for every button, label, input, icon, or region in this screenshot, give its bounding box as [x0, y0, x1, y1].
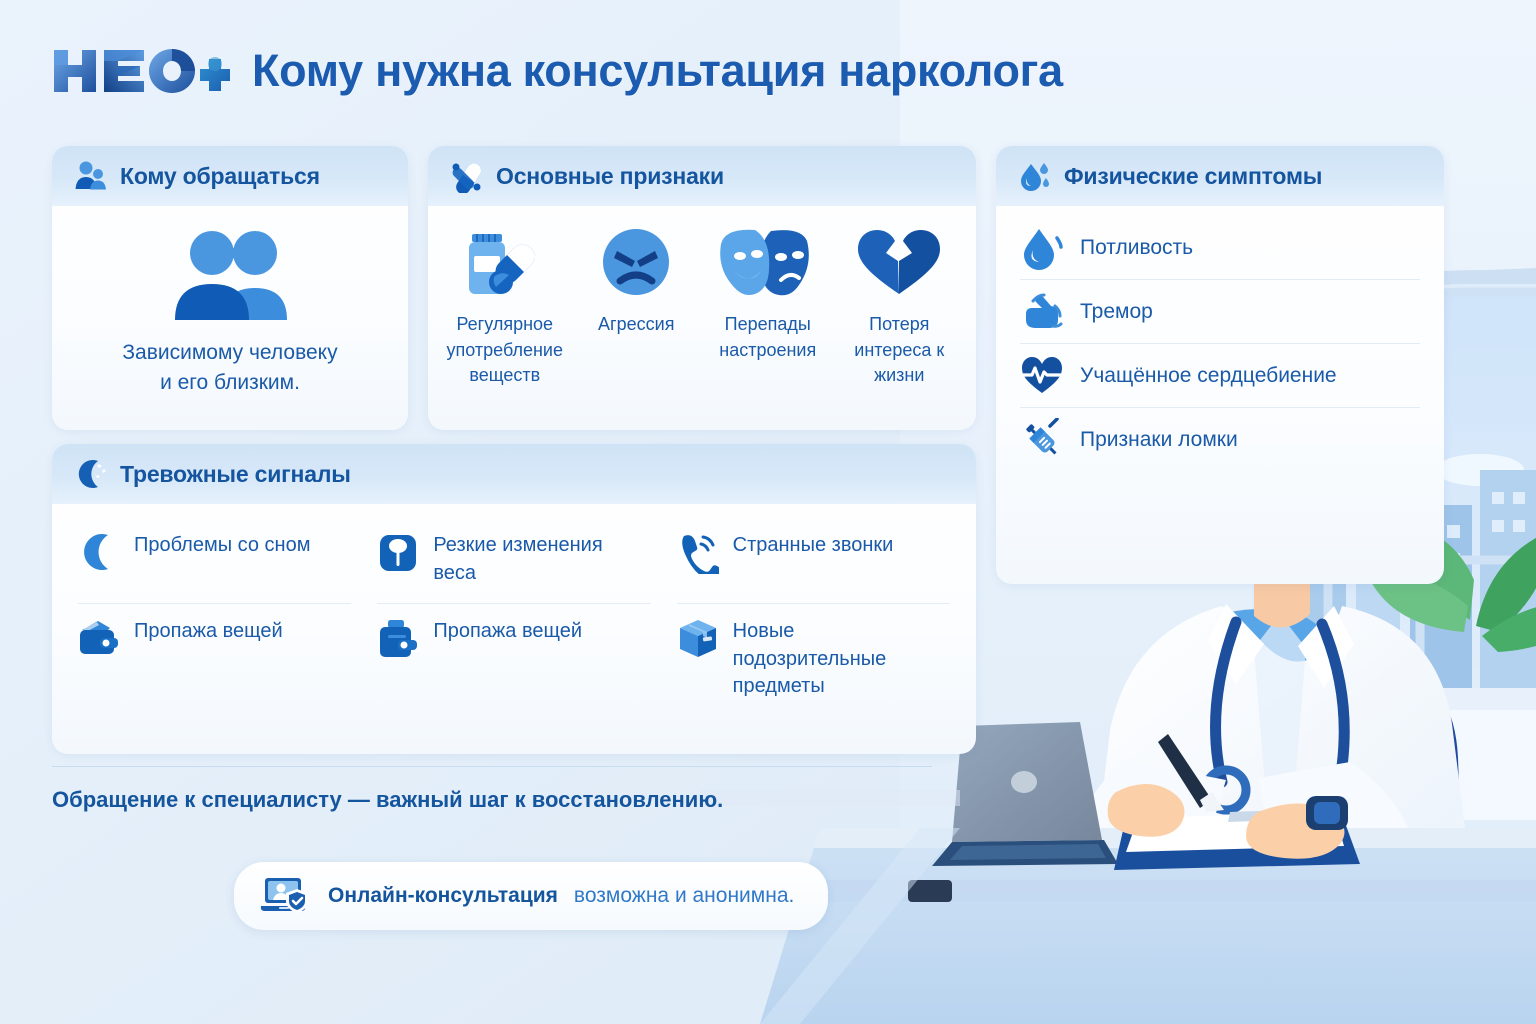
angry-face-icon: [587, 222, 685, 302]
footer-note-text: Обращение к специалисту — важный шаг к в…: [52, 787, 932, 813]
who-text: Зависимому человеку и его близким.: [122, 338, 337, 399]
weight-scale-icon: [377, 532, 419, 574]
alarm-label: Резкие изменения веса: [433, 530, 650, 587]
sign-label: Регулярное употребление веществ: [442, 312, 568, 389]
symptom-label: Тремор: [1080, 298, 1153, 325]
alarm-label: Пропажа вещей: [433, 616, 582, 646]
package-box-icon: [677, 618, 719, 660]
online-pill-rest: возможна и анонимна.: [574, 884, 794, 908]
two-people-icon: [165, 228, 295, 324]
who-text-line1: Зависимому человеку: [122, 338, 337, 368]
alarm-item: Проблемы со сном: [78, 518, 351, 604]
symptom-row: Потливость: [1020, 216, 1420, 280]
sign-item: Перепады настроения: [705, 222, 831, 389]
card-alarm-signals: Тревожные сигналы Проблемы со сном Ре: [52, 444, 976, 754]
alarm-item: Странные звонки: [677, 518, 950, 604]
card-physical-symptoms: Физические симптомы Потливость Тремор: [996, 146, 1444, 584]
symptom-row: Тремор: [1020, 280, 1420, 344]
alarm-item: Новые подозрительные предметы: [677, 604, 950, 715]
card-title: Основные признаки: [496, 163, 724, 190]
card-body: Зависимому человеку и его близким.: [52, 206, 408, 421]
alarm-item: Пропажа вещей: [78, 604, 351, 715]
sign-label: Перепады настроения: [705, 312, 831, 363]
phone-ringing-icon: [677, 532, 719, 574]
card-header: Основные признаки: [428, 146, 976, 206]
card-body: Проблемы со сном Резкие изменения веса: [52, 504, 976, 733]
alarm-label: Странные звонки: [733, 530, 894, 560]
symptom-row: Признаки ломки: [1020, 408, 1420, 472]
heart-pulse-icon: [1020, 354, 1064, 398]
moon-sleep-icon: [78, 532, 120, 574]
syringe-icon: [1020, 418, 1064, 462]
symptom-label: Учащённое сердцебиение: [1080, 362, 1337, 389]
card-header: Тревожные сигналы: [52, 444, 976, 504]
card-body: Потливость Тремор Учащённое сердцебиение: [996, 206, 1444, 488]
online-pill-strong: Онлайн-консультация: [328, 884, 558, 908]
sign-item: Агрессия: [574, 222, 700, 389]
card-title: Кому обращаться: [120, 163, 320, 190]
alarm-label: Пропажа вещей: [134, 616, 283, 646]
symptom-label: Потливость: [1080, 234, 1193, 261]
symptom-row: Учащённое сердцебиение: [1020, 344, 1420, 408]
briefcase-icon: [377, 618, 419, 660]
card-body: Регулярное употребление веществ Агрессия: [428, 206, 976, 407]
card-title: Физические симптомы: [1064, 163, 1322, 190]
who-text-line2: и его близким.: [122, 368, 337, 398]
shaking-hand-icon: [1020, 290, 1064, 334]
footer-note: Обращение к специалисту — важный шаг к в…: [52, 766, 932, 813]
card-header: Кому обращаться: [52, 146, 408, 206]
pill-capsule-icon: [450, 159, 484, 193]
sign-item: Регулярное употребление веществ: [442, 222, 568, 389]
sign-item: Потеря интереса к жизни: [837, 222, 963, 389]
laptop-verified-icon: [260, 876, 312, 916]
water-drops-icon: [1018, 159, 1052, 193]
online-consultation-badge[interactable]: Онлайн-консультация возможна и анонимна.: [234, 862, 828, 930]
sign-label: Потеря интереса к жизни: [837, 312, 963, 389]
neo-plus-logo: [52, 42, 230, 100]
page-header: Кому нужна консультация нарколога: [52, 32, 1063, 110]
alarm-label: Проблемы со сном: [134, 530, 310, 560]
card-main-signs: Основные признаки Регулярное употреблени…: [428, 146, 976, 430]
broken-heart-icon: [850, 222, 948, 302]
crescent-moon-icon: [74, 457, 108, 491]
pill-bottle-icon: [456, 222, 554, 302]
theatre-masks-icon: [719, 222, 817, 302]
card-title: Тревожные сигналы: [120, 461, 351, 488]
card-who-to-contact: Кому обращаться Зависимому человеку и ег…: [52, 146, 408, 430]
alarm-grid: Проблемы со сном Резкие изменения веса: [78, 518, 950, 715]
sign-label: Агрессия: [598, 312, 674, 338]
card-header: Физические симптомы: [996, 146, 1444, 206]
alarm-item: Пропажа вещей: [377, 604, 650, 715]
wallet-icon: [78, 618, 120, 660]
droplet-icon: [1020, 226, 1064, 270]
alarm-item: Резкие изменения веса: [377, 518, 650, 604]
page-title: Кому нужна консультация нарколога: [252, 45, 1063, 97]
people-icon: [74, 159, 108, 193]
alarm-label: Новые подозрительные предметы: [733, 616, 950, 701]
symptom-label: Признаки ломки: [1080, 426, 1238, 453]
